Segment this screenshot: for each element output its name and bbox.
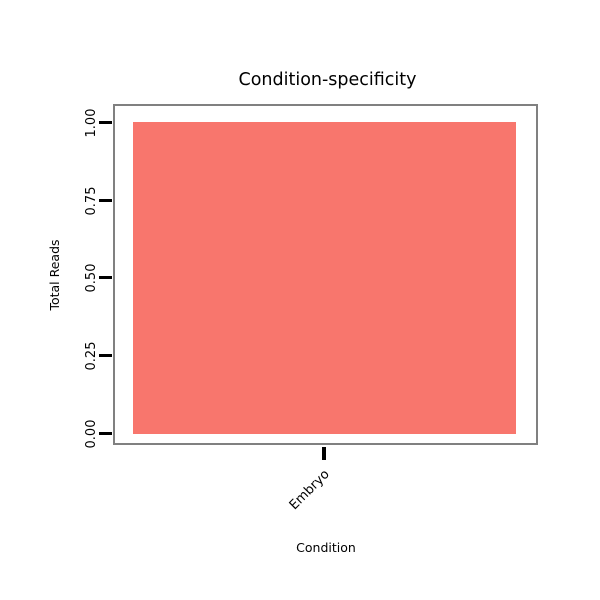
chart-panel [113, 104, 538, 445]
y-axis-tick-mark-1 [99, 354, 112, 357]
y-axis-title: Total Reads [47, 175, 63, 375]
y-axis-tick-mark-0 [99, 432, 112, 435]
y-axis-tick-label-2: 0.50 [84, 238, 100, 318]
y-axis-tick-label-3: 0.75 [84, 161, 100, 241]
y-axis-tick-label-4: 1.00 [84, 83, 100, 163]
y-axis-tick-label-0: 0.00 [84, 394, 100, 474]
y-axis-tick-mark-2 [99, 276, 112, 279]
x-axis-tick-label-0: Embryo [287, 467, 333, 513]
y-axis-tick-mark-4 [99, 121, 112, 124]
x-axis-tick-mark-0 [322, 447, 326, 460]
bar-embryo[interactable] [133, 122, 516, 434]
chart-panel-inner [115, 106, 536, 443]
y-axis-tick-mark-3 [99, 199, 112, 202]
chart-plot-area: Condition-specificity Total Reads 0.00 0… [0, 0, 600, 600]
x-axis-title: Condition [0, 540, 600, 556]
y-axis-tick-label-1: 0.25 [84, 316, 100, 396]
